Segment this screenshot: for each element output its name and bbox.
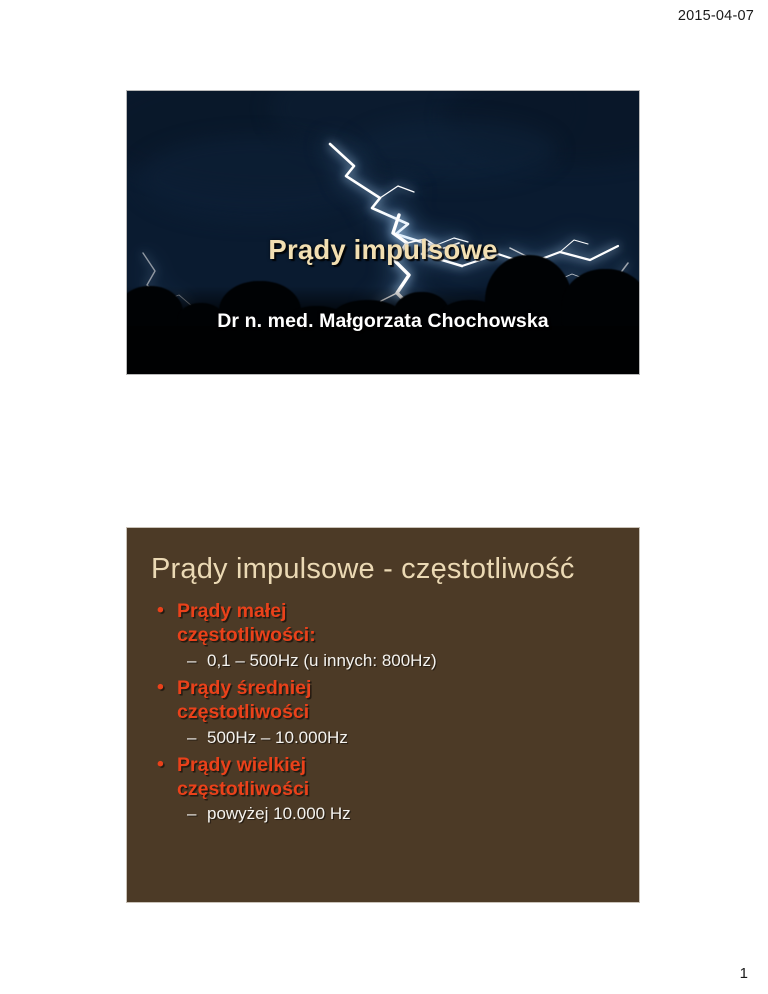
list-item: Prądy średniej częstotliwości 500Hz – 10… [127,677,639,748]
bullet-main-label: Prądy średniej częstotliwości [157,677,639,725]
bullet-sub-label: powyżej 10.000 Hz [187,804,639,824]
slide-title-subheading: Dr n. med. Małgorzata Chochowska [217,310,549,333]
bullet-main-label: Prądy wielkiej częstotliwości [157,754,639,802]
bullet-sub-label: 500Hz – 10.000Hz [187,728,639,748]
slide-content-page[interactable]: Prądy impulsowe - częstotliwość Prądy ma… [126,527,640,903]
slide-title-page[interactable]: Prądy impulsowe Dr n. med. Małgorzata Ch… [126,90,640,375]
slide-title-text-block: Prądy impulsowe Dr n. med. Małgorzata Ch… [127,91,639,374]
page-number: 1 [740,965,748,982]
list-item: Prądy małej częstotliwości: 0,1 – 500Hz … [127,600,639,671]
bullet-sub-label: 0,1 – 500Hz (u innych: 800Hz) [187,651,639,671]
bullet-list: Prądy małej częstotliwości: 0,1 – 500Hz … [127,600,639,825]
bullet-main-label: Prądy małej częstotliwości: [157,600,639,648]
slide-content-heading: Prądy impulsowe - częstotliwość [151,553,639,586]
slide-title-heading: Prądy impulsowe [268,234,497,266]
page-date: 2015-04-07 [678,8,754,24]
list-item: Prądy wielkiej częstotliwości powyżej 10… [127,754,639,825]
